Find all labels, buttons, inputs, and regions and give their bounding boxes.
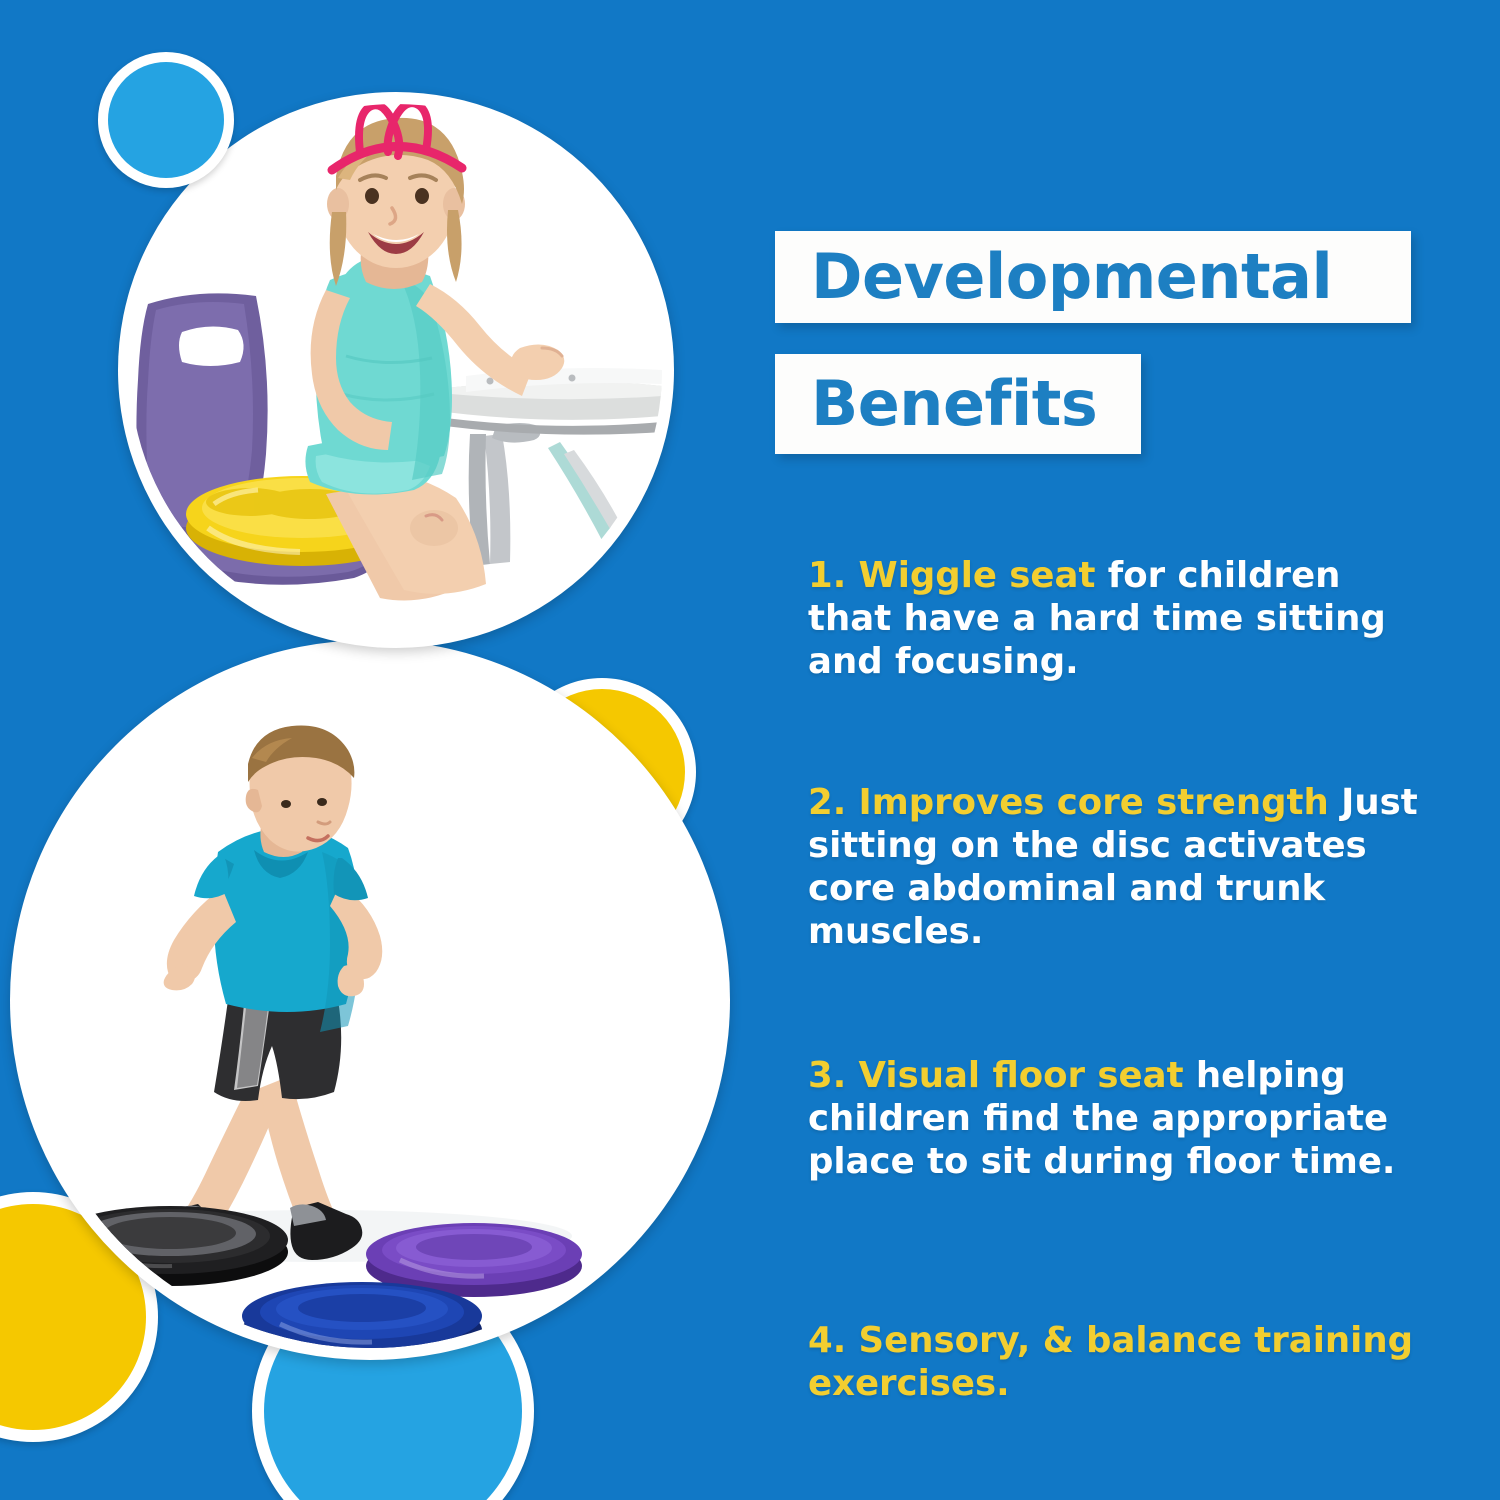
benefit-2-number: 2. xyxy=(808,782,846,823)
benefit-2-highlight: Improves core strength xyxy=(859,782,1329,823)
benefit-item-4: 4. Sensory, & balance training exercises… xyxy=(808,1319,1428,1406)
text-column: Developmental Benefits 1. Wiggle seat fo… xyxy=(775,0,1475,1500)
infographic-canvas: Developmental Benefits 1. Wiggle seat fo… xyxy=(0,0,1500,1500)
benefit-3-number: 3. xyxy=(808,1055,846,1096)
benefit-item-3: 3. Visual floor seat helping children fi… xyxy=(808,1054,1428,1184)
deco-circle-light-blue-top-left xyxy=(98,52,234,188)
page-title-line2: Benefits xyxy=(775,373,1097,435)
page-title-line1: Developmental xyxy=(775,246,1332,308)
page-title-line1-banner: Developmental xyxy=(775,231,1411,323)
photo-boy-stepping-across-balance-discs xyxy=(10,640,730,1360)
benefit-item-1: 1. Wiggle seat for children that have a … xyxy=(808,554,1428,684)
page-title-line2-banner: Benefits xyxy=(775,354,1141,454)
benefit-1-number: 1. xyxy=(808,555,846,596)
photo-inner xyxy=(130,104,662,636)
benefit-4-number: 4. xyxy=(808,1320,846,1361)
benefit-1-highlight: Wiggle seat xyxy=(859,555,1096,596)
benefit-item-2: 2. Improves core strength Just sitting o… xyxy=(808,781,1428,954)
deco-fill xyxy=(108,62,224,178)
photo-inner xyxy=(22,652,718,1348)
benefit-3-highlight: Visual floor seat xyxy=(859,1055,1184,1096)
benefit-4-highlight: Sensory, & balance training exercises. xyxy=(808,1320,1413,1404)
